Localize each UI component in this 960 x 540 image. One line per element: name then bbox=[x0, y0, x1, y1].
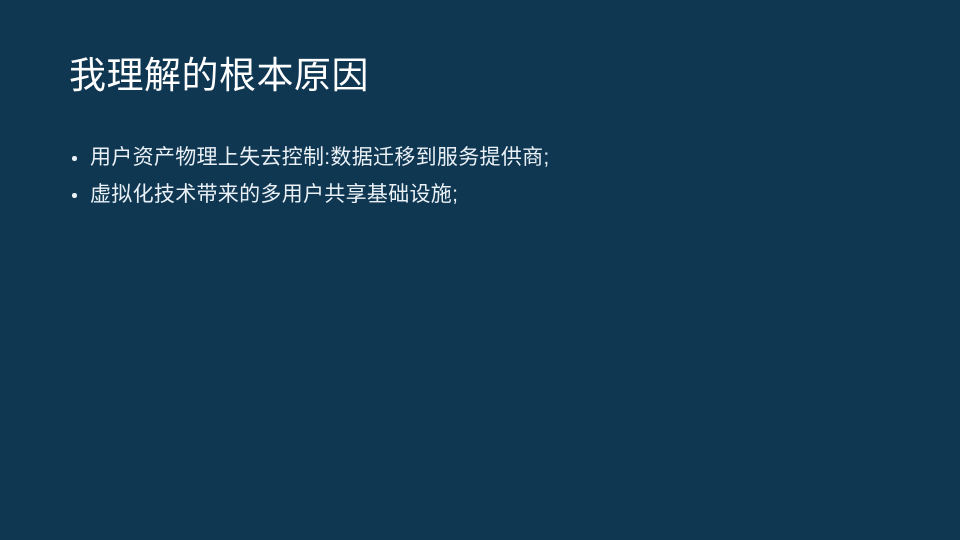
bullet-point-icon bbox=[72, 193, 77, 198]
list-item: 虚拟化技术带来的多用户共享基础设施; bbox=[69, 180, 909, 210]
page-title: 我理解的根本原因 bbox=[69, 52, 899, 100]
list-item-label: 用户资产物理上失去控制:数据迁移到服务提供商; bbox=[90, 143, 550, 173]
list-item-label: 虚拟化技术带来的多用户共享基础设施; bbox=[90, 180, 458, 210]
bullet-point-icon bbox=[72, 156, 77, 161]
list-item: 用户资产物理上失去控制:数据迁移到服务提供商; bbox=[69, 143, 909, 173]
bullet-list: 用户资产物理上失去控制:数据迁移到服务提供商; 虚拟化技术带来的多用户共享基础设… bbox=[69, 143, 909, 217]
slide-canvas: 我理解的根本原因 用户资产物理上失去控制:数据迁移到服务提供商; 虚拟化技术带来… bbox=[0, 0, 960, 540]
